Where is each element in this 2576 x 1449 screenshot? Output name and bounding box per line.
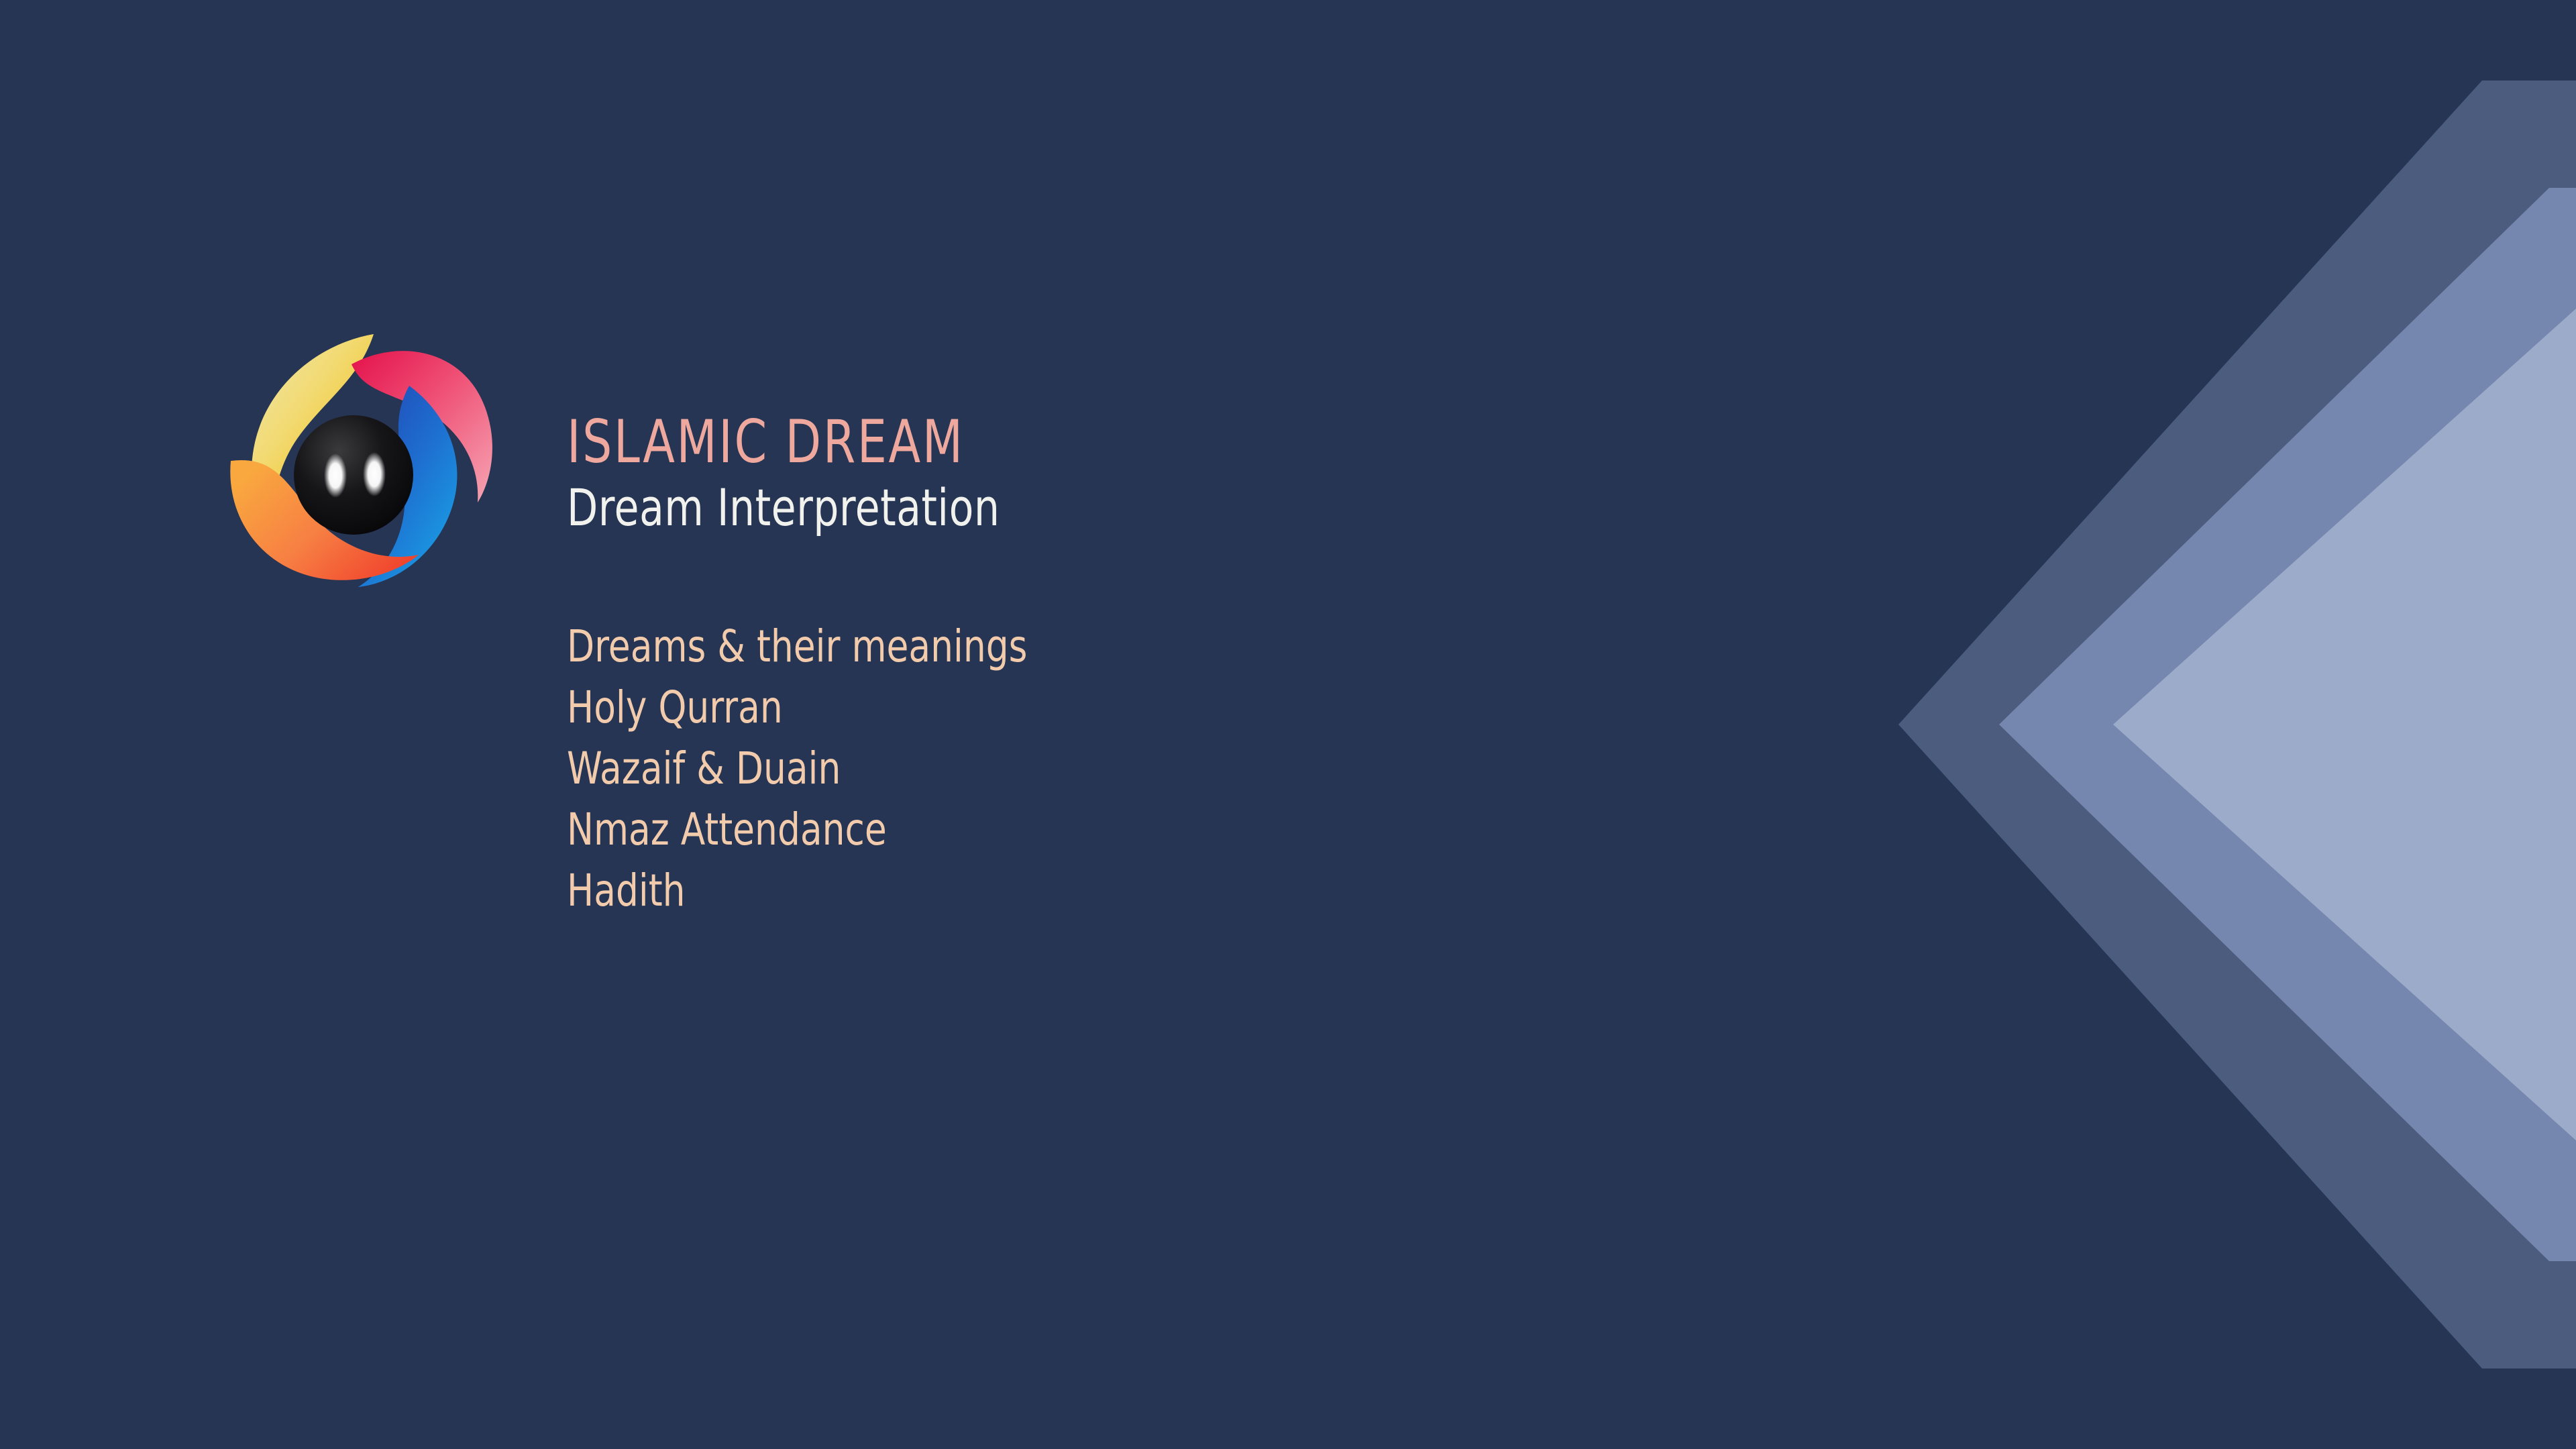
feature-item-wazaif: Wazaif & Duain <box>567 738 1028 799</box>
logo-eye-left <box>324 453 347 498</box>
app-title: ISLAMIC DREAM <box>567 413 1187 472</box>
feature-list: Dreams & their meanings Holy Qurran Waza… <box>567 616 1079 921</box>
feature-item-namaz: Nmaz Attendance <box>567 799 1028 860</box>
logo-core <box>294 415 413 535</box>
chevron-decoration <box>1838 0 2576 1449</box>
chevron-layer-1 <box>1898 80 2576 1368</box>
app-subtitle: Dream Interpretation <box>567 481 1187 535</box>
chevron-layer-2 <box>1999 188 2576 1261</box>
feature-item-hadith: Hadith <box>567 860 1028 921</box>
swirl-lens-logo-icon <box>215 305 496 587</box>
logo-eye-right <box>363 452 386 496</box>
splash-screen: ISLAMIC DREAM Dream Interpretation Dream… <box>0 0 2576 1449</box>
feature-item-dreams: Dreams & their meanings <box>567 616 1028 677</box>
brand-wordmark: ISLAMIC DREAM Dream Interpretation <box>567 413 1271 535</box>
chevron-layer-3 <box>2113 309 2576 1140</box>
feature-item-quran: Holy Qurran <box>567 677 1028 738</box>
